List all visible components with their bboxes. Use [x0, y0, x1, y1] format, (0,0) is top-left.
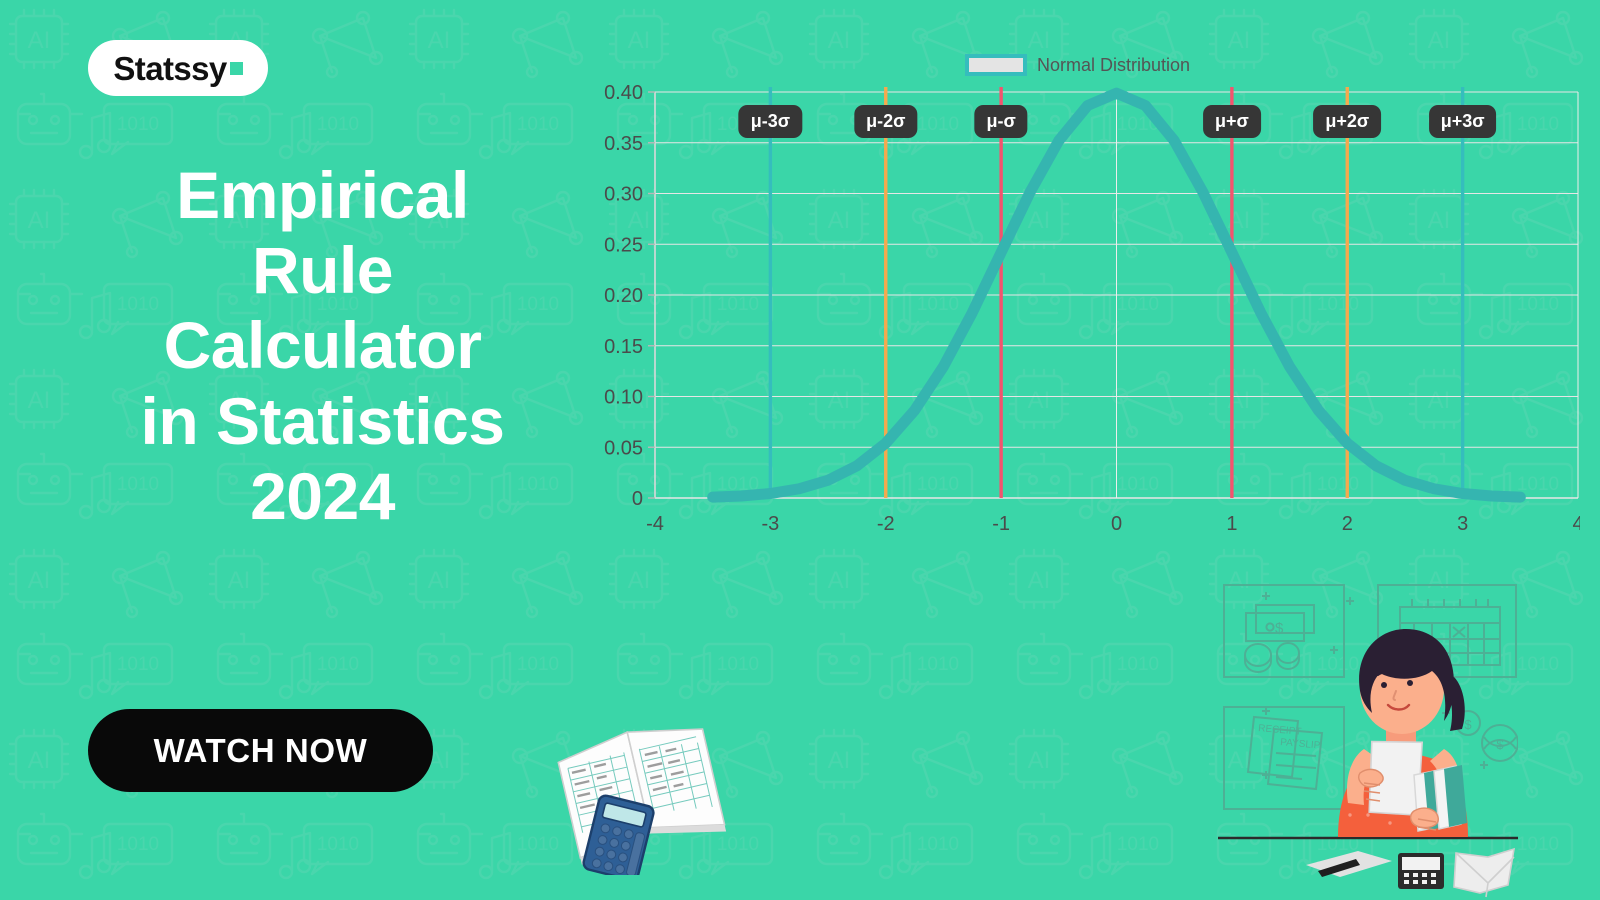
page-title-line-5: 2024: [60, 459, 585, 534]
sigma-badge: μ-3σ: [739, 105, 802, 138]
page-title-line-1: Empirical: [60, 158, 585, 233]
sigma-badge: μ-σ: [974, 105, 1027, 138]
svg-text:$: $: [1275, 620, 1284, 637]
normal-distribution-chart: Normal Distribution 00.050.100.150.200.2…: [600, 40, 1580, 550]
svg-text:PAYSLIP: PAYSLIP: [1280, 737, 1321, 751]
x-tick-label: 3: [1457, 513, 1468, 535]
y-tick-label: 0.15: [604, 336, 643, 358]
sigma-badge: μ+3σ: [1429, 105, 1497, 138]
x-tick-label: -1: [992, 513, 1010, 535]
svg-text:$: $: [1464, 717, 1472, 732]
x-tick-label: -3: [761, 513, 779, 535]
woman-with-documents-illustration: $ RECEIPT PAYSLIP $ $: [1218, 565, 1518, 900]
brand-logo: Statssy: [88, 40, 268, 96]
y-tick-label: 0.40: [604, 82, 643, 104]
book-calculator-illustration: [548, 700, 738, 875]
page-title-line-3: Calculator: [60, 308, 585, 383]
x-tick-label: 4: [1572, 513, 1580, 535]
svg-text:$: $: [1496, 737, 1504, 752]
page-title-line-4: in Statistics: [60, 384, 585, 459]
y-tick-label: 0.10: [604, 387, 643, 409]
svg-text:RECEIPT: RECEIPT: [1258, 723, 1302, 738]
brand-logo-text: Statssy: [113, 52, 226, 85]
sigma-badge: μ-2σ: [854, 105, 917, 138]
y-tick-label: 0.05: [604, 437, 643, 459]
y-tick-label: 0.30: [604, 184, 643, 206]
x-tick-label: 1: [1226, 513, 1237, 535]
brand-logo-dot-icon: [230, 62, 243, 75]
x-tick-label: 2: [1342, 513, 1353, 535]
x-tick-label: 0: [1111, 513, 1122, 535]
y-tick-label: 0: [632, 488, 643, 510]
sigma-badge: μ+2σ: [1313, 105, 1381, 138]
y-tick-label: 0.20: [604, 285, 643, 307]
y-tick-label: 0.35: [604, 133, 643, 155]
x-tick-label: -4: [646, 513, 664, 535]
watch-now-button[interactable]: WATCH NOW: [88, 709, 433, 792]
page-title-line-2: Rule: [60, 233, 585, 308]
desk-items: [1306, 849, 1514, 897]
x-tick-label: -2: [877, 513, 895, 535]
poster-canvas: AI 1010: [0, 0, 1600, 900]
page-title: Empirical Rule Calculator in Statistics …: [60, 158, 585, 534]
sigma-badge: μ+σ: [1203, 105, 1261, 138]
y-tick-label: 0.25: [604, 234, 643, 256]
